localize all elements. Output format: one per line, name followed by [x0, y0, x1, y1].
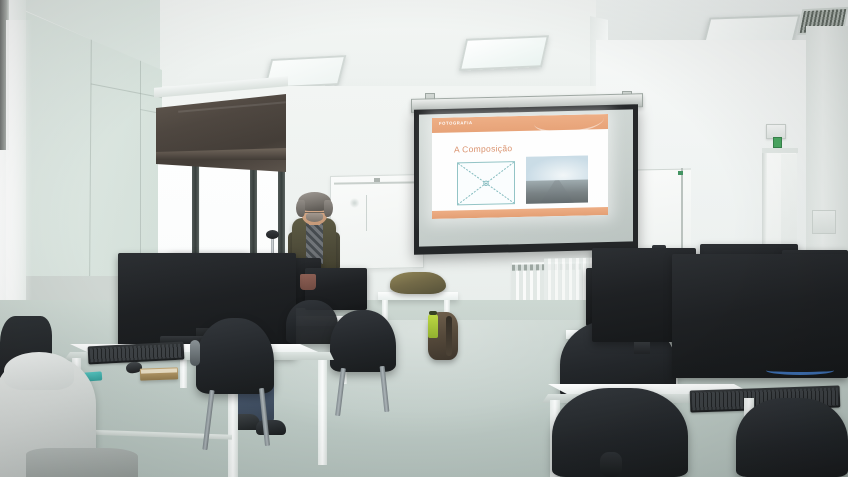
panel-seam: [89, 28, 92, 278]
shoe: [256, 420, 286, 435]
panel-seam: [140, 43, 141, 278]
chair: [330, 310, 396, 372]
right-wall-pillar: [806, 26, 848, 276]
student-lap: [26, 448, 138, 477]
whiteboard-marking: [350, 196, 359, 210]
emergency-exit-sign-icon: [773, 137, 782, 148]
ceiling-light-panel-icon: [459, 35, 549, 71]
whiteboard-left: [330, 174, 424, 270]
slide-landscape-photo: [526, 155, 588, 203]
chair: [196, 318, 274, 394]
composition-diagram-diagonals: [458, 162, 514, 204]
blind-bottom-bar: [154, 148, 286, 160]
classroom-photo: FOTOGRAFIA A Composição: [0, 0, 848, 477]
microphone-icon: [266, 230, 279, 239]
hoodie-hood: [4, 352, 74, 390]
desk-leg: [318, 360, 327, 465]
composition-diagram-icon: [457, 161, 515, 205]
photo-sky: [526, 155, 588, 180]
photo-road: [540, 180, 574, 204]
whiteboard-clip: [374, 178, 380, 182]
presenter-hair: [296, 200, 305, 217]
wall-access-panel: [812, 210, 836, 234]
khaki-bag: [390, 272, 446, 294]
slide-header-swoosh: [534, 114, 604, 134]
projected-slide: FOTOGRAFIA A Composição: [432, 114, 608, 219]
monitor-stand: [634, 342, 650, 354]
whiteboard-marker: [678, 171, 683, 175]
backpack-strap: [446, 316, 452, 356]
slide-title: A Composição: [454, 143, 512, 154]
network-cable: [766, 366, 834, 375]
chair-base: [600, 452, 622, 477]
chair: [736, 398, 848, 477]
door-header: [762, 148, 798, 153]
blind-fold: [178, 101, 286, 112]
water-bottle: [428, 314, 438, 338]
coffee-mug: [300, 274, 316, 290]
keyboard-keys: [90, 344, 183, 363]
slide-header-label: FOTOGRAFIA: [439, 120, 473, 126]
monitor: [672, 254, 848, 378]
whiteboard-marking: [366, 195, 367, 231]
roller-blind[interactable]: [156, 94, 286, 172]
presenter-beard: [306, 213, 323, 222]
chair-armrest: [190, 340, 200, 366]
bottle-cap: [429, 311, 437, 315]
